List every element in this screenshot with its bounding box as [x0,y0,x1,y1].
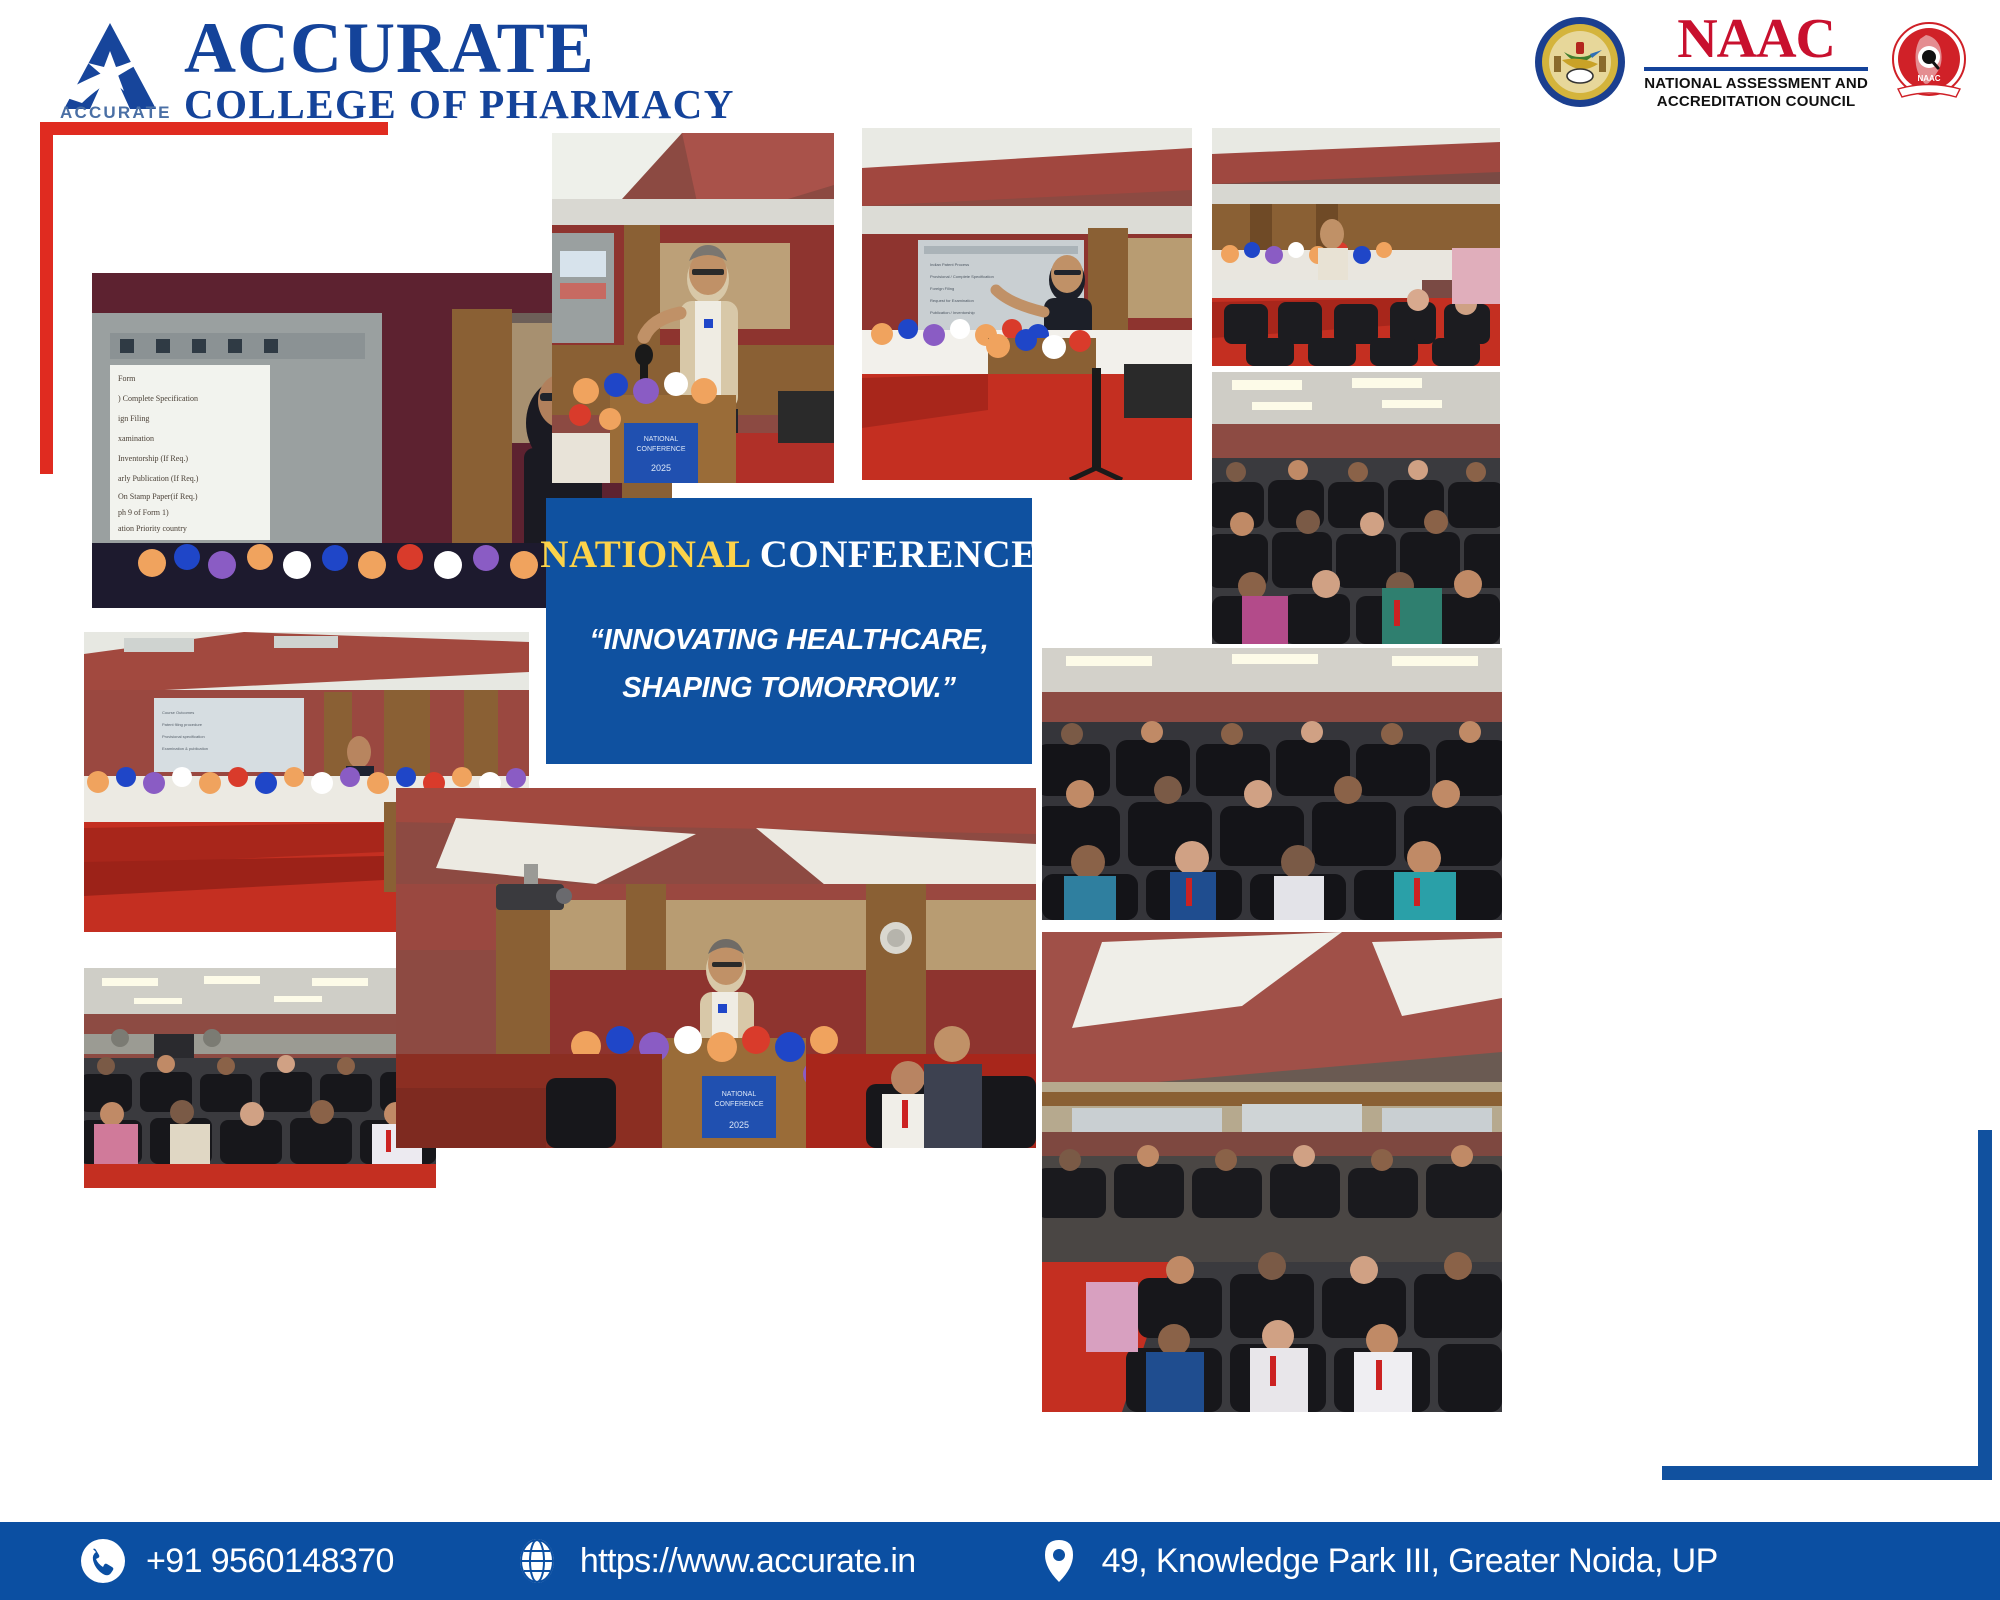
naac-wordmark: NAAC [1677,14,1835,64]
naac-subtitle-line1: NATIONAL ASSESSMENT AND [1644,75,1868,92]
globe-icon [514,1538,560,1584]
footer-address-text: 49, Knowledge Park III, Greater Noida, U… [1102,1542,1718,1581]
svg-text:2025: 2025 [729,1120,749,1130]
svg-text:Patent filing procedure: Patent filing procedure [162,722,203,727]
podium-banner-line2: CONFERENCE [636,446,685,453]
bracket-horizontal-bar [40,122,388,135]
poster-canvas: ACCURATE ACCURATE COLLEGE OF PHARMACY [0,0,2000,1600]
photo-audience-rows-left [84,968,436,1188]
college-logo: ACCURATE ACCURATE COLLEGE OF PHARMACY [52,14,735,124]
photo-stage-wide-audience [1212,128,1500,366]
svg-text:CONFERENCE: CONFERENCE [714,1101,763,1108]
svg-text:xamination: xamination [118,434,154,443]
naac-wordmark-lockup: NAAC NATIONAL ASSESSMENT AND ACCREDITATI… [1644,14,1868,110]
naac-circular-seal-icon: NAAC [1886,19,1972,105]
footer-phone[interactable]: +91 9560148370 [80,1538,394,1584]
tagline-line-2: SHAPING TOMORROW.” [589,665,988,713]
accurate-a-swoosh-icon: ACCURATE [52,17,170,121]
footer-website-text: https://www.accurate.in [580,1542,916,1581]
svg-text:Provisional / Complete Specifi: Provisional / Complete Specification [930,274,994,279]
naac-subtitle-line2: ACCREDITATION COUNCIL [1644,93,1868,110]
heading-rest: CONFERENCE [760,533,1038,576]
svg-text:ph 9 of Form 1): ph 9 of Form 1) [118,508,169,517]
accreditation-logos: NAAC NATIONAL ASSESSMENT AND ACCREDITATI… [1534,14,1972,110]
svg-text:Course Outcomes: Course Outcomes [162,710,194,715]
svg-text:Foreign Filing: Foreign Filing [930,286,954,291]
photo-hall-back-rows [1042,932,1502,1412]
photo-chief-guest-address: NATIONAL CONFERENCE 2025 [552,133,834,483]
conference-heading: NATIONAL CONFERENCE [540,532,1037,577]
svg-text:On Stamp Paper(if Req.): On Stamp Paper(if Req.) [118,492,198,501]
svg-text:Provisional specification: Provisional specification [162,734,205,739]
logo-line-college: COLLEGE OF PHARMACY [184,85,735,124]
svg-text:Examination & publication: Examination & publication [162,746,208,751]
logo-line-accurate: ACCURATE [184,14,735,83]
svg-text:NAAC: NAAC [1917,74,1940,83]
bracket-horizontal-bar [1662,1466,1992,1480]
svg-text:) Complete Specification: ) Complete Specification [118,394,198,403]
podium-banner-line1: NATIONAL [644,436,679,443]
location-pin-icon [1036,1538,1082,1584]
photo-auditorium-packed [1212,372,1500,644]
svg-text:Publication / Inventorship: Publication / Inventorship [930,310,975,315]
decor-bracket-bottom-right [1662,1130,1992,1480]
college-logo-text: ACCURATE COLLEGE OF PHARMACY [184,14,735,124]
svg-text:Inventorship (If Req.): Inventorship (If Req.) [118,454,188,463]
conference-tagline: “INNOVATING HEALTHCARE, SHAPING TOMORROW… [589,617,988,713]
footer-address[interactable]: 49, Knowledge Park III, Greater Noida, U… [1036,1538,1718,1584]
conference-title-panel: NATIONAL CONFERENCE “INNOVATING HEALTHCA… [546,498,1032,764]
poster-header: ACCURATE ACCURATE COLLEGE OF PHARMACY [0,0,2000,128]
svg-text:Indian Patent Process: Indian Patent Process [930,262,969,267]
naac-subtitle: NATIONAL ASSESSMENT AND ACCREDITATION CO… [1644,75,1868,110]
podium-banner-year: 2025 [651,463,671,473]
svg-text:ation Priority country: ation Priority country [118,524,187,533]
svg-text:arly Publication (If Req.): arly Publication (If Req.) [118,474,199,483]
logo-mark-word: ACCURATE [60,103,164,123]
svg-text:Form: Form [118,374,136,383]
phone-icon [80,1538,126,1584]
svg-text:Request for Examination: Request for Examination [930,298,974,303]
photo-students-crowd-close [1042,648,1502,920]
bracket-vertical-bar [1978,1130,1992,1480]
contact-footer: +91 9560148370 https://www.accurate.in [0,1522,2000,1600]
footer-website[interactable]: https://www.accurate.in [514,1538,916,1584]
bracket-vertical-bar [40,122,53,474]
pharmacy-council-of-india-seal-icon [1534,16,1626,108]
photo-speaker-pointing-screen: Indian Patent Process Provisional / Comp… [862,128,1192,480]
photo-main-session-podium: NATIONAL CONFERENCE 2025 [396,788,1036,1148]
naac-divider [1644,67,1868,71]
footer-phone-text: +91 9560148370 [146,1542,394,1581]
svg-text:ign Filing: ign Filing [118,414,149,423]
heading-highlight: NATIONAL [540,533,749,576]
svg-text:NATIONAL: NATIONAL [722,1091,757,1098]
tagline-line-1: “INNOVATING HEALTHCARE, [589,617,988,665]
